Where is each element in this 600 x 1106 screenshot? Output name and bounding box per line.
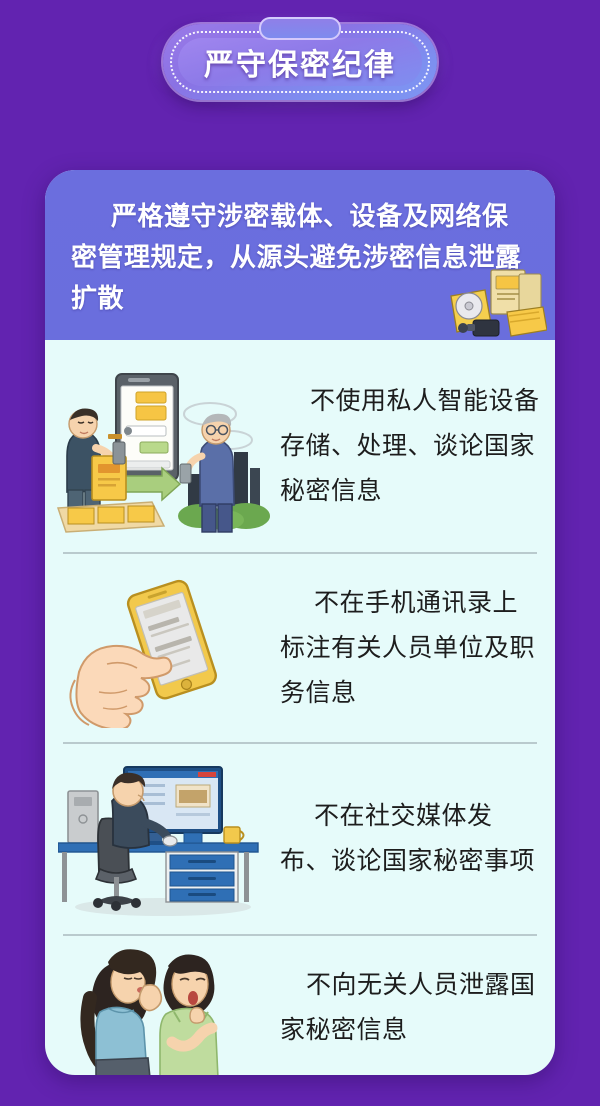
rules-list: 不使用私人智能设备存储、处理、谈论国家秘密信息 — [45, 340, 555, 1075]
badge-top-nub — [259, 17, 341, 40]
card-header-text: 严格遵守涉密载体、设备及网络保密管理规定，从源头避免涉密信息泄露扩散 — [71, 196, 529, 319]
poster-root: 严守保密纪律 严格遵守涉密载体、设备及网络保密管理规定，从源头避免涉密信息泄露扩… — [0, 0, 600, 1106]
rule-text: 不使用私人智能设备存储、处理、谈论国家秘密信息 — [280, 379, 555, 514]
badge-inner-panel: 严守保密纪律 — [178, 38, 422, 86]
content-card: 严格遵守涉密载体、设备及网络保密管理规定，从源头避免涉密信息泄露扩散 — [45, 170, 555, 1075]
card-header: 严格遵守涉密载体、设备及网络保密管理规定，从源头避免涉密信息泄露扩散 — [45, 170, 555, 340]
badge-body: 严守保密纪律 — [163, 24, 437, 100]
two-women-whispering-illustration — [45, 938, 280, 1076]
rule-text: 不向无关人员泄露国家秘密信息 — [280, 963, 555, 1053]
poster-title: 严守保密纪律 — [204, 40, 396, 84]
man-at-desk-computer-illustration — [45, 757, 280, 922]
hand-holding-phone-contacts-illustration — [45, 568, 280, 728]
handover-document-to-phone-illustration — [45, 356, 280, 536]
rule-row: 不使用私人智能设备存储、处理、谈论国家秘密信息 — [45, 340, 555, 552]
rule-row: 不在社交媒体发布、谈论国家秘密事项 — [45, 744, 555, 934]
rule-text: 不在手机通讯录上标注有关人员单位及职务信息 — [280, 581, 555, 716]
rule-row: 不在手机通讯录上标注有关人员单位及职务信息 — [45, 554, 555, 742]
title-badge: 严守保密纪律 — [163, 24, 437, 100]
rule-text: 不在社交媒体发布、谈论国家秘密事项 — [280, 794, 555, 884]
rule-row: 不向无关人员泄露国家秘密信息 — [45, 936, 555, 1075]
